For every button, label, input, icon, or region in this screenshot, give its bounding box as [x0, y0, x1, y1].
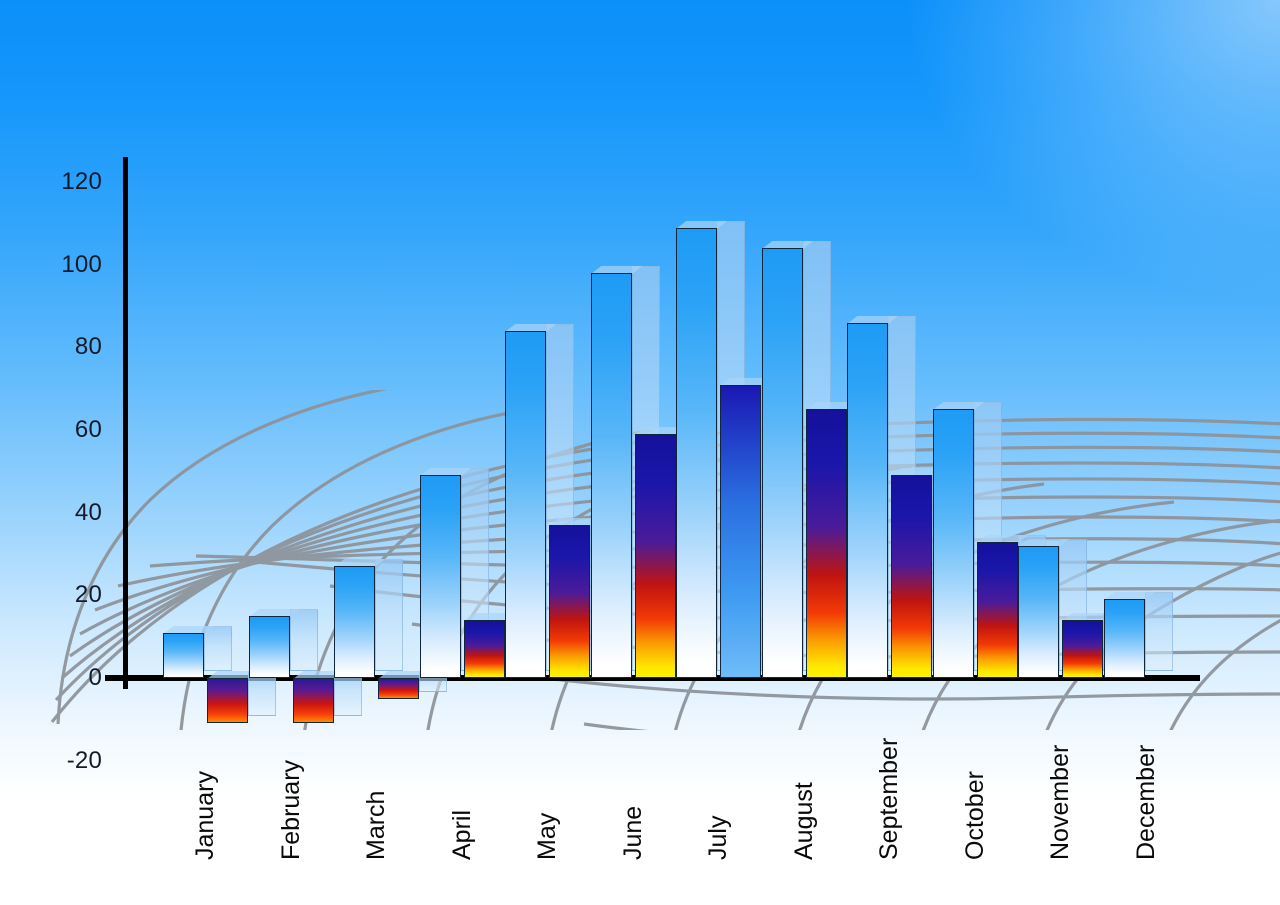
x-axis-label-october: October	[961, 771, 990, 860]
bar-series1-april[interactable]	[420, 475, 461, 678]
bar-face	[977, 542, 1018, 678]
bar-face	[1104, 599, 1145, 678]
bar-series2-august[interactable]	[806, 409, 847, 678]
bar-face	[249, 616, 290, 678]
y-axis-tick-label: -20	[40, 747, 102, 775]
bar-face	[891, 475, 932, 678]
x-axis-label-july: July	[704, 816, 733, 860]
bar-series2-april[interactable]	[464, 620, 505, 678]
x-axis-label-august: August	[790, 782, 819, 860]
bar-3d-side	[375, 559, 403, 671]
x-axis-label-april: April	[448, 810, 477, 860]
plot-area: 120100806040200-20 JanuaryFebruaryMarchA…	[0, 0, 1280, 905]
y-axis-tick-mark	[110, 676, 122, 680]
bar-face	[420, 475, 461, 678]
bar-series2-october[interactable]	[977, 542, 1018, 678]
bar-series2-july[interactable]	[720, 385, 761, 678]
bar-face	[1062, 620, 1103, 678]
x-axis-label-november: November	[1046, 745, 1075, 860]
x-axis-label-september: September	[875, 738, 904, 860]
bar-series1-june[interactable]	[591, 273, 632, 678]
bar-face	[591, 273, 632, 678]
chart-canvas: 120100806040200-20 JanuaryFebruaryMarchA…	[0, 0, 1280, 905]
bar-3d-side	[1145, 592, 1173, 671]
x-axis-label-january: January	[191, 771, 220, 860]
bar-series1-march[interactable]	[334, 566, 375, 678]
bar-series1-august[interactable]	[762, 248, 803, 678]
bar-face	[635, 434, 676, 678]
bar-face	[1018, 546, 1059, 678]
bar-face	[847, 323, 888, 678]
y-axis-tick-label: 40	[40, 499, 102, 527]
bar-3d-side	[204, 626, 232, 671]
y-axis-tick-label: 80	[40, 333, 102, 361]
bar-series2-may[interactable]	[549, 525, 590, 678]
bar-series1-september[interactable]	[847, 323, 888, 678]
bar-face	[464, 620, 505, 678]
bar-face	[933, 409, 974, 678]
bar-face	[676, 228, 717, 678]
bar-face	[505, 331, 546, 678]
bar-series1-november[interactable]	[1018, 546, 1059, 678]
bar-series2-january[interactable]	[207, 678, 248, 723]
bar-series1-july[interactable]	[676, 228, 717, 678]
y-axis-tick-label: 100	[40, 251, 102, 279]
bar-series1-december[interactable]	[1104, 599, 1145, 678]
bar-series1-january[interactable]	[163, 633, 204, 678]
bar-series2-june[interactable]	[635, 434, 676, 678]
bar-face	[762, 248, 803, 678]
bar-face	[720, 385, 761, 678]
x-axis-label-march: March	[362, 791, 391, 860]
x-axis-label-december: December	[1132, 745, 1161, 860]
bar-face	[549, 525, 590, 678]
bar-3d-side	[290, 609, 318, 671]
x-axis-label-may: May	[533, 813, 562, 860]
bar-face	[334, 566, 375, 678]
bar-face	[163, 633, 204, 678]
bar-series2-february[interactable]	[293, 678, 334, 723]
bar-series2-september[interactable]	[891, 475, 932, 678]
bar-series2-november[interactable]	[1062, 620, 1103, 678]
y-axis-tick-label: 120	[40, 168, 102, 196]
bar-series2-march[interactable]	[378, 678, 419, 699]
y-axis-line	[123, 157, 128, 689]
y-axis-tick-label: 20	[40, 581, 102, 609]
bar-face	[207, 678, 248, 723]
bar-face	[378, 678, 419, 699]
bar-series1-october[interactable]	[933, 409, 974, 678]
bar-series1-may[interactable]	[505, 331, 546, 678]
bar-series1-february[interactable]	[249, 616, 290, 678]
x-axis-label-june: June	[619, 806, 648, 860]
x-axis-label-february: February	[277, 760, 306, 860]
bar-face	[293, 678, 334, 723]
y-axis-tick-label: 0	[40, 664, 102, 692]
y-axis-tick-label: 60	[40, 416, 102, 444]
bar-face	[806, 409, 847, 678]
